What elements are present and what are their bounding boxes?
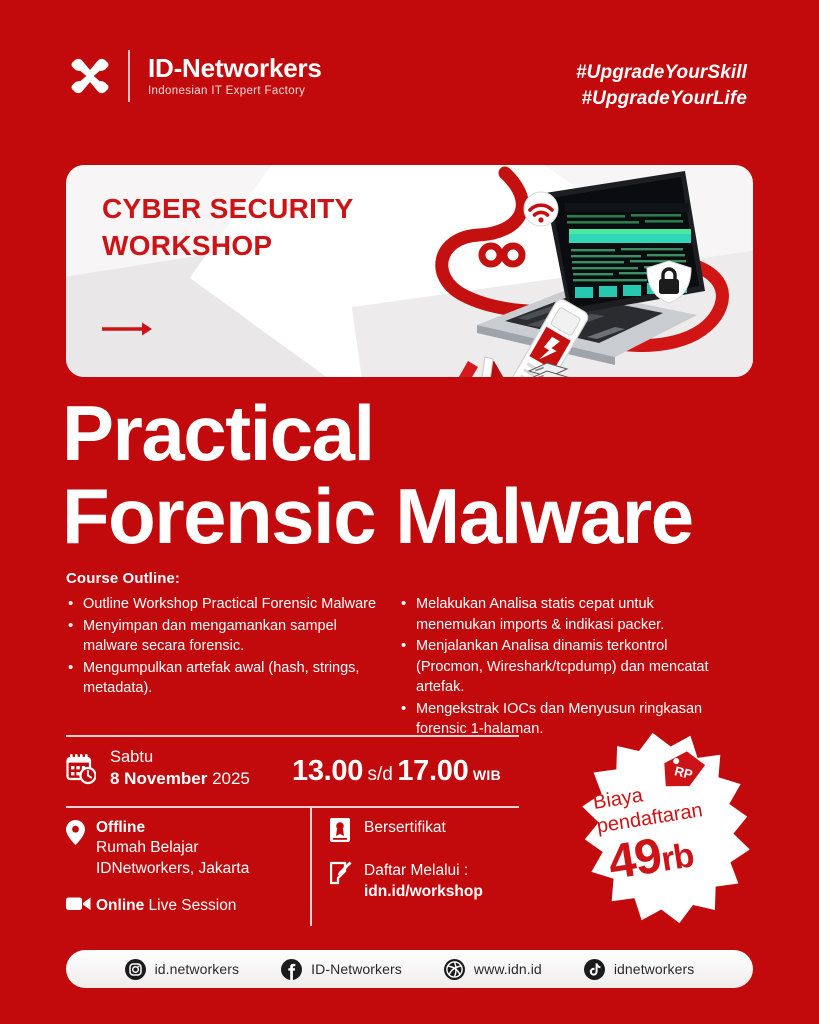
banner-title: CYBER SECURITY WORKSHOP — [102, 191, 354, 265]
social-label: id.networkers — [155, 961, 240, 977]
poster-header: ID-Networkers Indonesian IT Expert Facto… — [0, 0, 819, 150]
page-title: Practical Forensic Malware — [62, 392, 693, 559]
banner-title-line1: CYBER SECURITY — [102, 191, 354, 228]
social-label: www.idn.id — [474, 961, 542, 977]
brand-name: ID-Networkers — [148, 55, 322, 82]
venue-offline-label: Offline — [96, 818, 249, 838]
hashtag-skill: #UpgradeYourSkill — [576, 60, 747, 86]
register-url[interactable]: idn.id/workshop — [364, 882, 483, 903]
social-item-website[interactable]: www.idn.id — [444, 959, 542, 980]
brand-lockup: ID-Networkers Indonesian IT Expert Facto… — [66, 50, 322, 102]
price-amount-group: 49rb — [604, 823, 696, 892]
banner-title-line2: WORKSHOP — [102, 228, 354, 265]
time-separator: s/d — [368, 764, 393, 785]
time-zone: WIB — [473, 767, 501, 783]
arrow-right-icon — [102, 320, 156, 343]
course-outline-left-column: Outline Workshop Practical Forensic Malw… — [66, 594, 381, 741]
tiktok-icon — [584, 959, 605, 980]
schedule-day: Sabtu — [110, 748, 250, 767]
hashtag-life: #UpgradeYourLife — [576, 86, 747, 112]
list-item: Melakukan Analisa statis cepat untuk men… — [399, 594, 714, 635]
social-label: idnetworkers — [614, 961, 695, 977]
venue-online-label: Online — [96, 897, 144, 914]
course-outline: Outline Workshop Practical Forensic Malw… — [66, 594, 756, 741]
list-item: Menjalankan Analisa dinamis terkontrol (… — [399, 636, 714, 698]
social-label: ID-Networkers — [311, 961, 402, 977]
price-badge: Biaya pendaftaran 49rb RP — [566, 728, 766, 928]
idn-x-people-logo-icon — [66, 52, 114, 100]
venue-offline-row: Offline Rumah Belajar IDNetworkers, Jaka… — [66, 818, 249, 879]
facebook-icon — [281, 959, 302, 980]
instagram-icon — [125, 959, 146, 980]
list-item: Menyimpan dan mengamankan sampel malware… — [66, 616, 381, 657]
schedule-date: 8 November — [110, 769, 207, 788]
certificate-label: Bersertifikat — [364, 818, 446, 839]
time-start: 13.00 — [292, 755, 363, 787]
divider-vertical — [310, 808, 312, 926]
time-end: 17.00 — [397, 755, 468, 787]
venue-offline-line1: Rumah Belajar — [96, 838, 249, 858]
register-row[interactable]: Daftar Melalui : idn.id/workshop — [330, 861, 483, 903]
price-amount: 49 — [605, 828, 665, 890]
code-brackets-3d-icon — [448, 351, 514, 377]
venue-online-row: Online Live Session — [66, 895, 249, 917]
brand-divider — [128, 50, 130, 102]
certificate-icon — [330, 818, 364, 847]
map-pin-icon — [66, 818, 96, 850]
info-block: Bersertifikat Daftar Melalui : idn.id/wo… — [330, 818, 483, 903]
calendar-clock-icon — [66, 753, 96, 785]
edit-note-icon — [330, 861, 364, 890]
globe-web-icon — [444, 959, 465, 980]
social-item-instagram[interactable]: id.networkers — [125, 959, 240, 980]
divider-middle — [66, 806, 519, 808]
venue-offline-line2: IDNetworkers, Jakarta — [96, 859, 249, 879]
video-camera-icon — [66, 895, 96, 917]
course-outline-heading: Course Outline: — [66, 570, 180, 587]
divider-top — [66, 735, 519, 737]
social-footer-bar: id.networkers ID-Networkers www.idn.id — [66, 950, 753, 988]
page-title-line1: Practical — [62, 392, 693, 475]
certificate-row: Bersertifikat — [330, 818, 483, 847]
schedule-year: 2025 — [212, 769, 250, 788]
hashtag-block: #UpgradeYourSkill #UpgradeYourLife — [576, 60, 747, 112]
server-stack-3d-icon — [525, 359, 571, 377]
social-item-tiktok[interactable]: idnetworkers — [584, 959, 695, 980]
social-item-facebook[interactable]: ID-Networkers — [281, 959, 402, 980]
course-outline-right-column: Melakukan Analisa statis cepat untuk men… — [399, 594, 714, 741]
venue-block: Offline Rumah Belajar IDNetworkers, Jaka… — [66, 818, 249, 917]
schedule-date-row: Sabtu 8 November 2025 — [66, 748, 250, 789]
page-title-line2: Forensic Malware — [62, 475, 693, 558]
hero-banner: CYBER SECURITY WORKSHOP — [66, 165, 753, 377]
list-item: Mengumpulkan artefak awal (hash, strings… — [66, 658, 381, 699]
price-unit: rb — [659, 836, 697, 879]
venue-online-rest: Live Session — [149, 897, 237, 914]
register-label: Daftar Melalui : — [364, 861, 483, 882]
list-item: Outline Workshop Practical Forensic Malw… — [66, 594, 381, 615]
laptop-terminal-3d-icon — [419, 165, 753, 377]
brand-tagline: Indonesian IT Expert Factory — [148, 85, 322, 97]
schedule-time-block: 13.00 s/d 17.00 WIB — [292, 755, 501, 788]
